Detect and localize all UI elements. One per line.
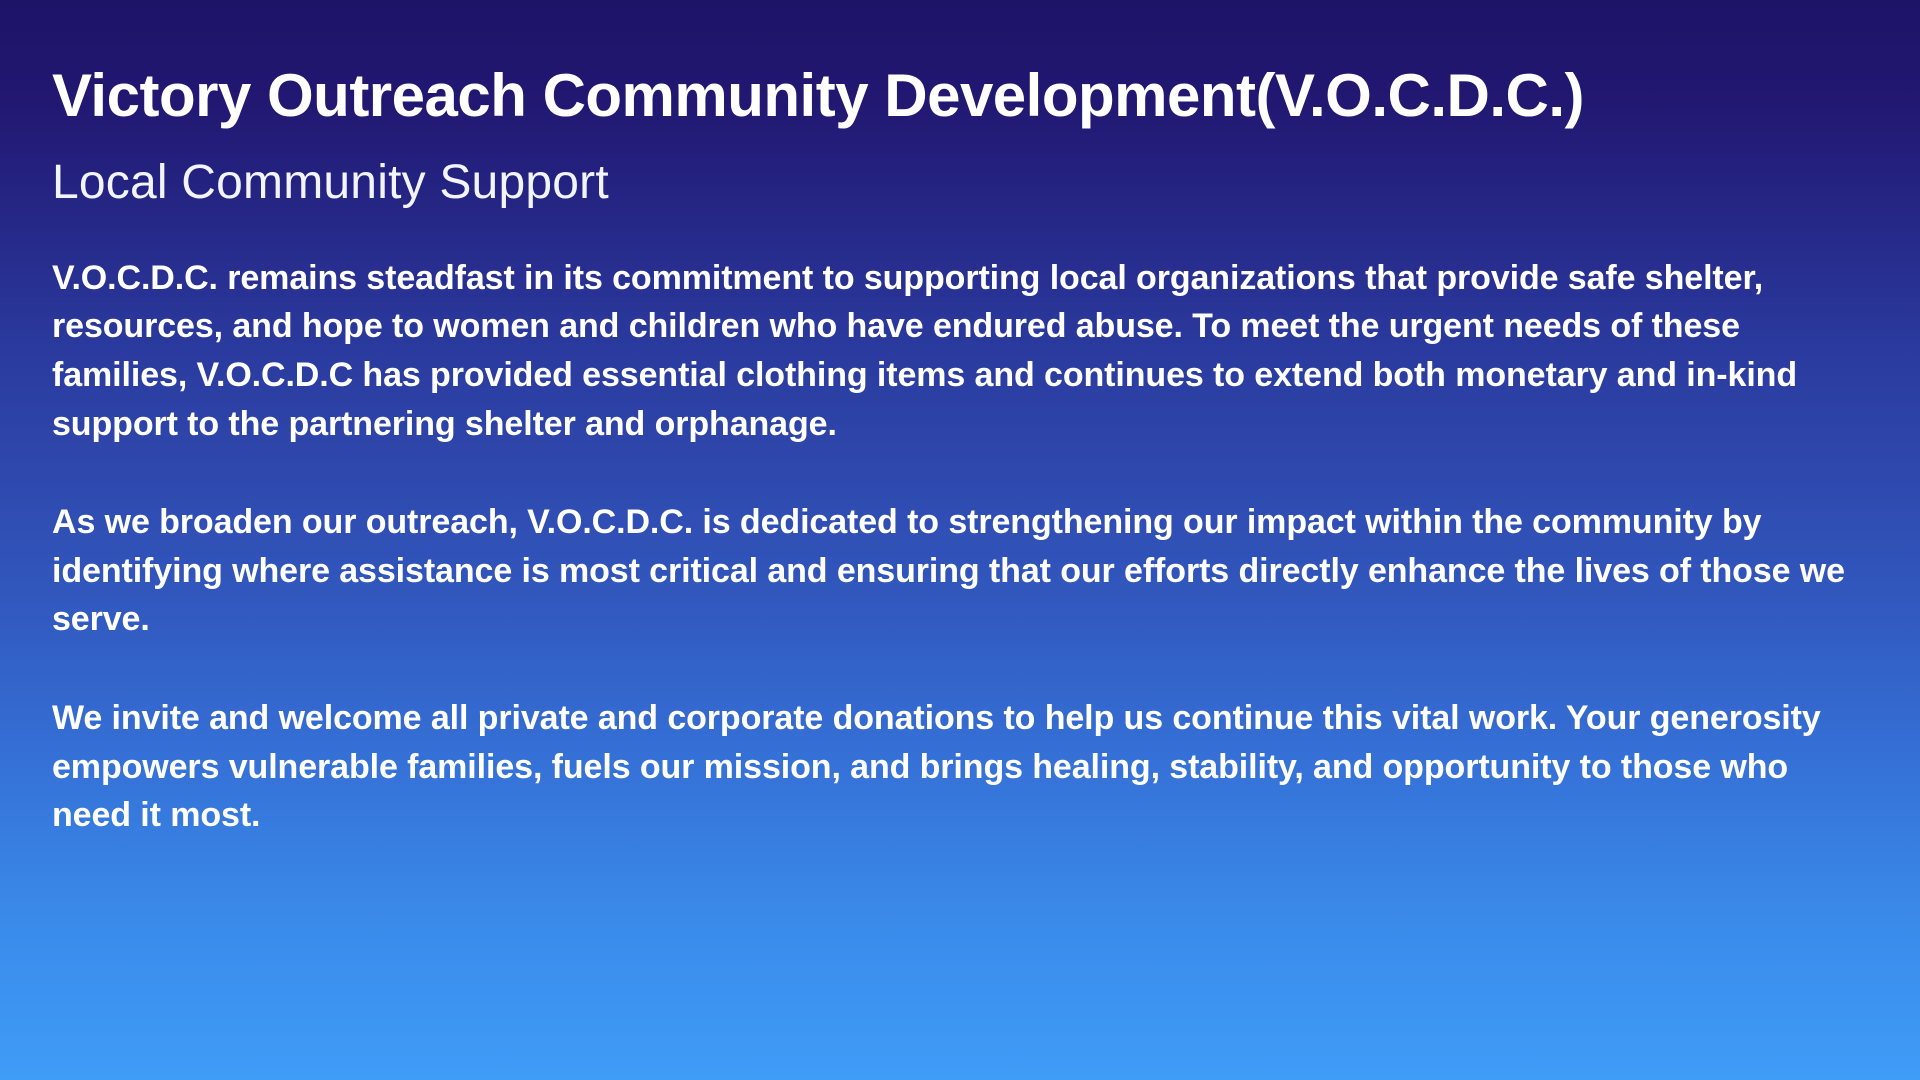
body-paragraph-2: As we broaden our outreach, V.O.C.D.C. i… [52,498,1860,644]
body-paragraph-1: V.O.C.D.C. remains steadfast in its comm… [52,254,1860,448]
slide-subtitle: Local Community Support [52,155,1860,212]
slide-body: V.O.C.D.C. remains steadfast in its comm… [52,254,1860,840]
page-title: Victory Outreach Community Development(V… [52,62,1860,129]
body-paragraph-3: We invite and welcome all private and co… [52,694,1860,840]
presentation-slide: Victory Outreach Community Development(V… [0,0,1920,1080]
